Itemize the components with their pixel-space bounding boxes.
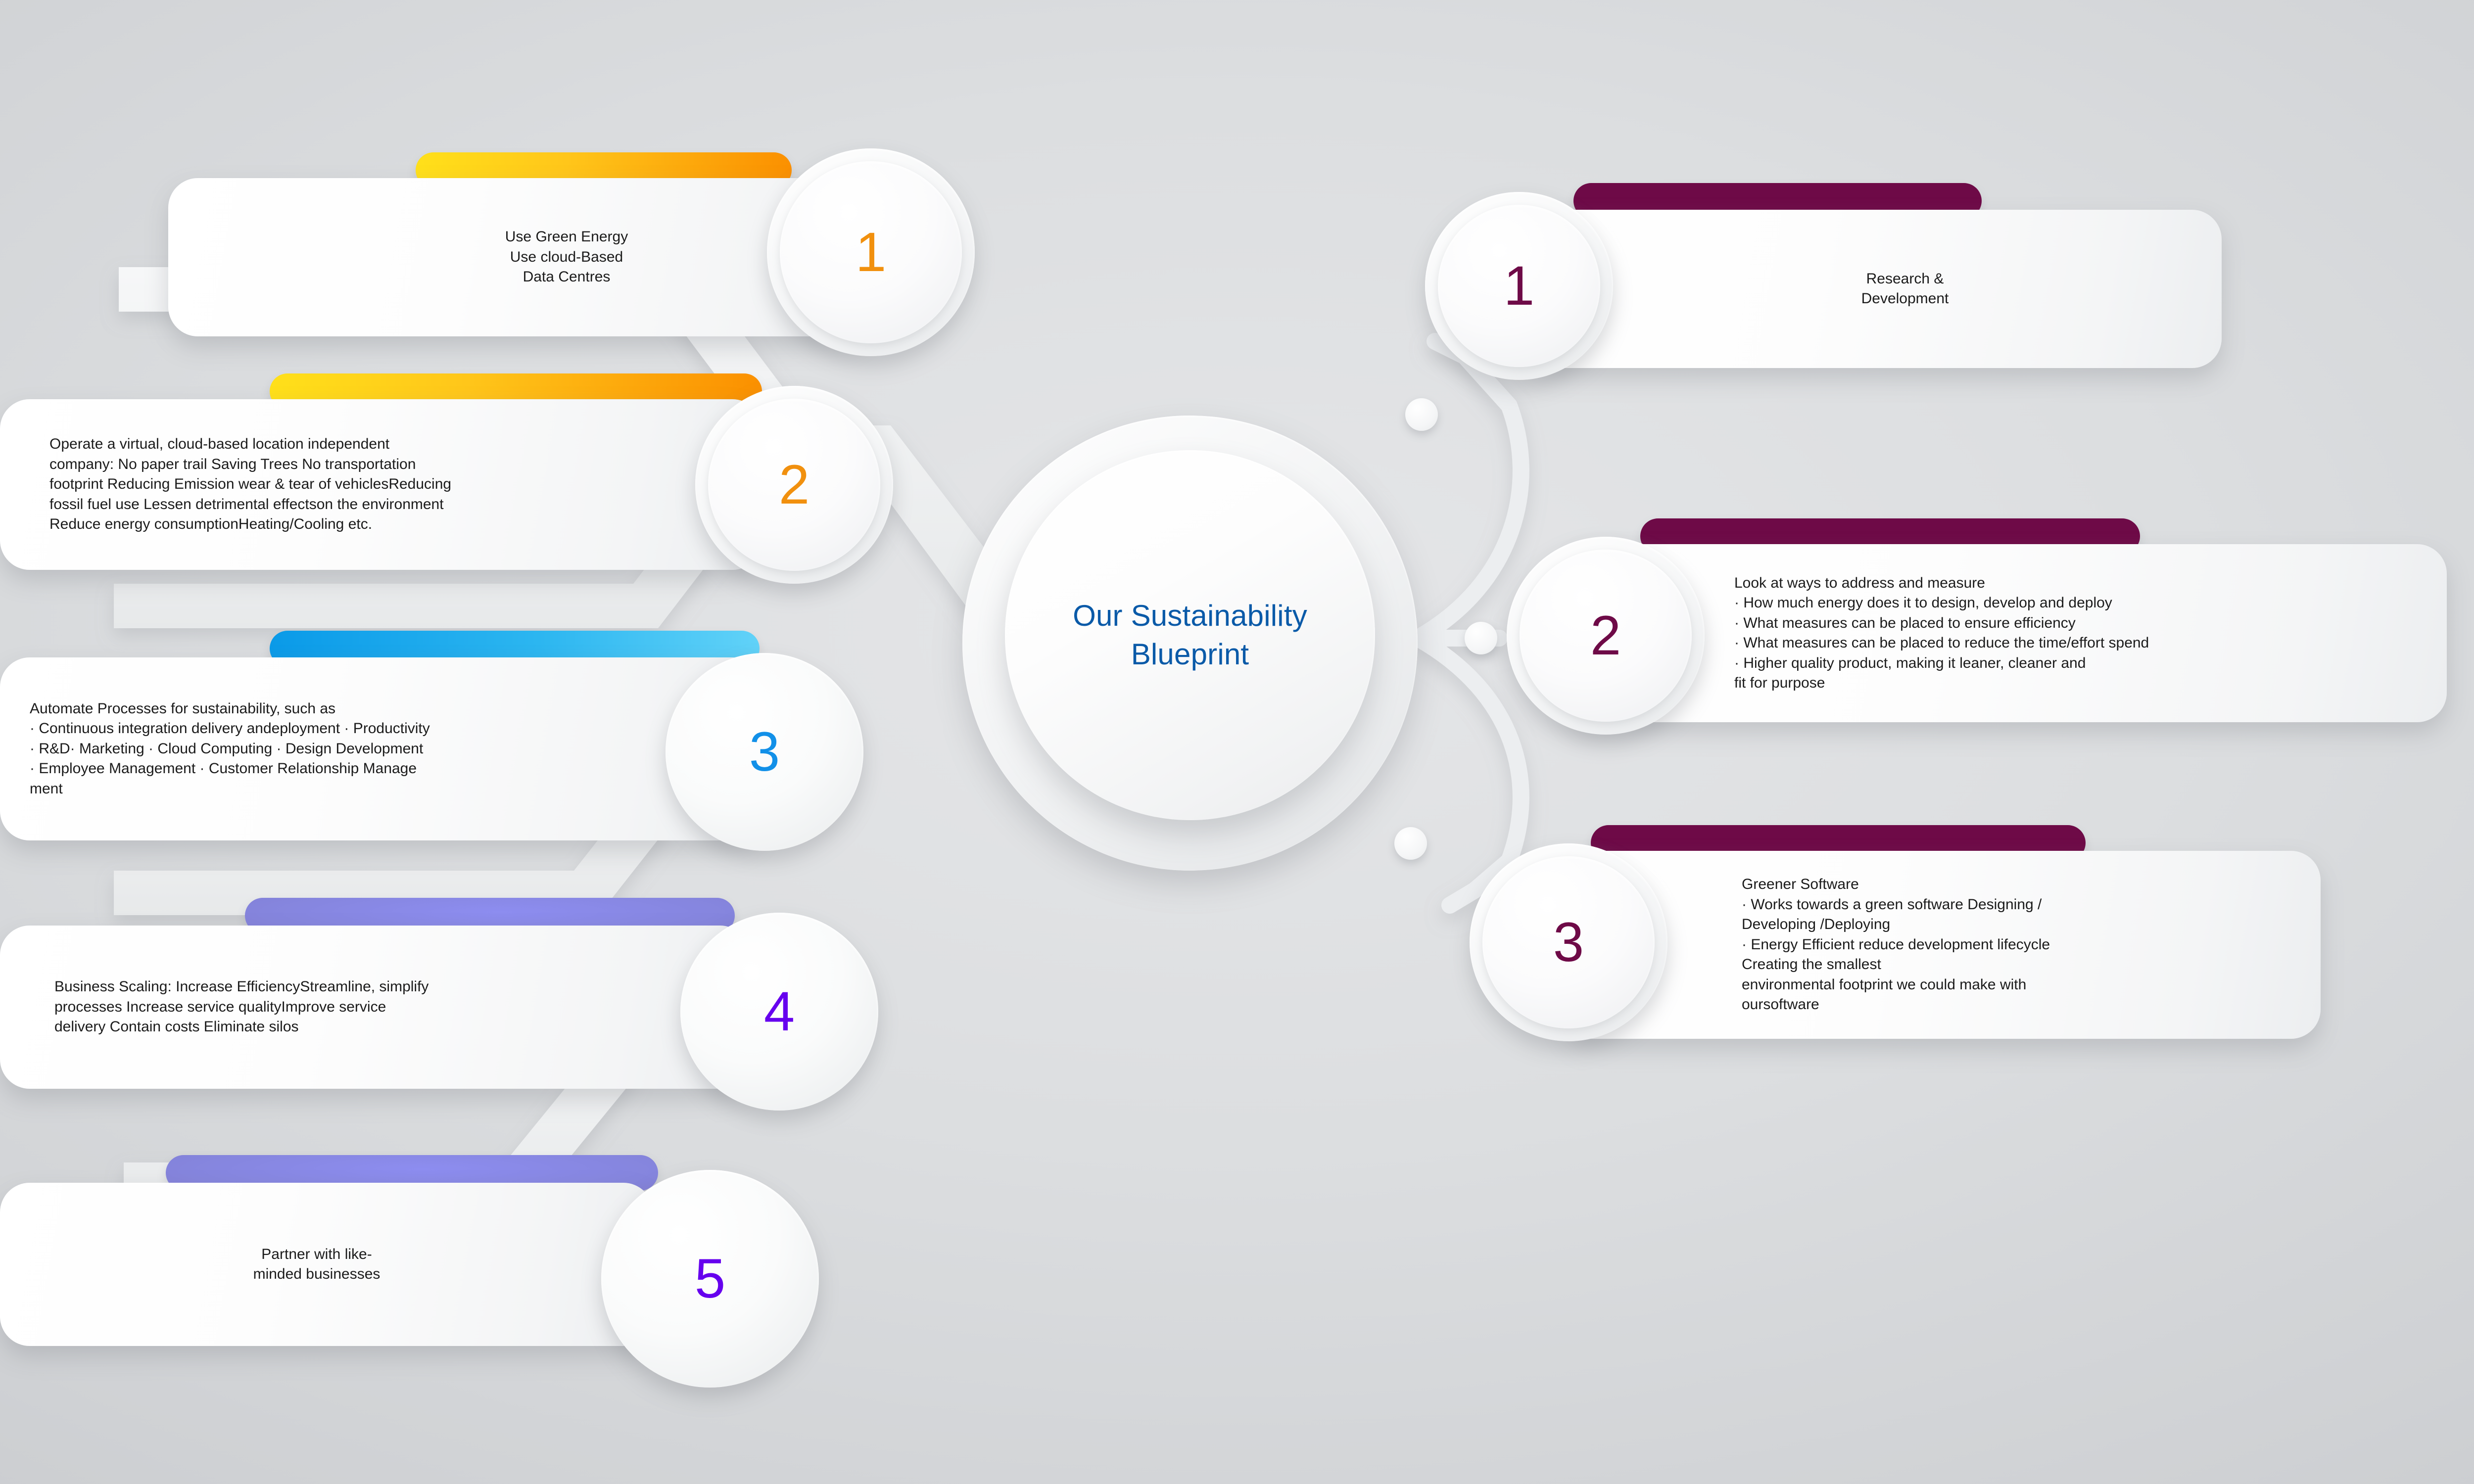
right-item-1[interactable]: Research & Development 1 [1425, 178, 2222, 386]
number-circle-left-4[interactable]: 4 [680, 913, 878, 1111]
number-left-2: 2 [779, 457, 809, 512]
right-item-2[interactable]: Look at ways to address and measure · Ho… [1507, 514, 2474, 737]
card-right-1[interactable]: Research & Development [1524, 210, 2222, 368]
card-right-1-text: Research & Development [1687, 269, 2123, 309]
number-right-3: 3 [1553, 915, 1584, 970]
card-left-2[interactable]: Operate a virtual, cloud-based location … [0, 399, 762, 570]
left-item-4[interactable]: Business Scaling: Increase EfficiencyStr… [0, 893, 940, 1111]
number-circle-left-1[interactable]: 1 [767, 148, 975, 356]
card-left-1-text: Use Green Energy Use cloud-Based Data Ce… [336, 227, 797, 287]
card-left-3[interactable]: Automate Processes for sustainability, s… [0, 657, 762, 840]
card-right-3-text: Greener Software · Works towards a green… [1742, 875, 2050, 1015]
card-left-5[interactable]: Partner with like- minded businesses [0, 1183, 653, 1346]
left-item-5[interactable]: Partner with like- minded businesses 5 [0, 1150, 841, 1363]
page-title: Our Sustainability Blueprint [1042, 597, 1338, 674]
card-left-3-text: Automate Processes for sustainability, s… [30, 699, 430, 799]
left-item-1[interactable]: Use Green Energy Use cloud-Based Data Ce… [168, 148, 990, 341]
card-right-2-text: Look at ways to address and measure · Ho… [1734, 573, 2149, 694]
number-circle-right-3[interactable]: 3 [1470, 843, 1667, 1041]
right-item-3[interactable]: Greener Software · Works towards a green… [1470, 821, 2321, 1054]
number-left-4: 4 [764, 984, 795, 1039]
hub-inner-disc: Our Sustainability Blueprint [1005, 450, 1375, 820]
number-left-1: 1 [856, 225, 886, 280]
left-item-2[interactable]: Operate a virtual, cloud-based location … [0, 369, 940, 576]
number-circle-left-5[interactable]: 5 [601, 1170, 819, 1388]
number-circle-right-2[interactable]: 2 [1507, 537, 1705, 735]
card-left-1[interactable]: Use Green Energy Use cloud-Based Data Ce… [168, 178, 871, 336]
number-left-3: 3 [749, 724, 780, 780]
connector-node-2 [1465, 622, 1497, 654]
number-circle-left-3[interactable]: 3 [666, 653, 863, 851]
left-item-3[interactable]: Automate Processes for sustainability, s… [0, 626, 940, 863]
card-left-4-text: Business Scaling: Increase EfficiencyStr… [54, 977, 428, 1037]
number-right-2: 2 [1590, 608, 1621, 663]
card-right-3[interactable]: Greener Software · Works towards a green… [1564, 851, 2321, 1039]
card-left-2-text: Operate a virtual, cloud-based location … [49, 434, 451, 535]
card-left-4[interactable]: Business Scaling: Increase EfficiencyStr… [0, 926, 750, 1089]
card-left-5-text: Partner with like- minded businesses [99, 1245, 534, 1285]
center-hub[interactable]: Our Sustainability Blueprint [962, 416, 1418, 871]
number-left-5: 5 [695, 1251, 725, 1306]
number-right-1: 1 [1504, 258, 1534, 314]
number-circle-left-2[interactable]: 2 [695, 386, 893, 584]
number-circle-right-1[interactable]: 1 [1425, 192, 1613, 380]
